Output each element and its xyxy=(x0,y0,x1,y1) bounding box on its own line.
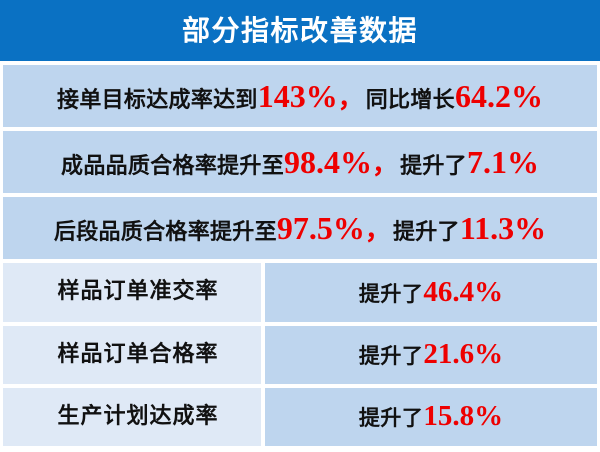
metric-value-prefix: 提升了 xyxy=(359,284,424,305)
metric-label-cell: 生产计划达成率 xyxy=(3,388,261,446)
metric-statement: 成品品质合格率提升至98.4%，提升了7.1% xyxy=(61,146,539,178)
metric-value-secondary: 7.1% xyxy=(467,146,539,178)
metric-value-secondary: 64.2% xyxy=(455,80,543,112)
metric-statement: 接单目标达成率达到143%，同比增长64.2% xyxy=(57,80,543,112)
metric-label-text: 样品订单合格率 xyxy=(57,344,218,366)
metric-middle-text: 同比增长 xyxy=(366,90,455,112)
metric-value-prefix: 提升了 xyxy=(359,408,424,429)
metric-row-wide: 后段品质合格率提升至97.5%，提升了11.3% xyxy=(3,197,597,259)
metric-value-cell: 提升了21.6% xyxy=(265,326,597,384)
metric-label-text: 生产计划达成率 xyxy=(57,406,218,428)
metric-value-primary: 97.5% xyxy=(277,212,365,244)
metric-separator: ， xyxy=(372,152,400,178)
metric-value-statement: 提升了15.8% xyxy=(359,402,503,431)
metric-prefix-text: 后段品质合格率提升至 xyxy=(54,222,277,244)
metric-value-secondary: 11.3% xyxy=(460,212,546,244)
page-title: 部分指标改善数据 xyxy=(182,17,418,45)
metric-label-cell: 样品订单合格率 xyxy=(3,326,261,384)
metric-label-text: 样品订单准交率 xyxy=(57,281,218,303)
metric-value-cell: 提升了15.8% xyxy=(265,388,597,446)
metric-separator: ， xyxy=(365,218,393,244)
metric-statement: 后段品质合格率提升至97.5%，提升了11.3% xyxy=(54,212,546,244)
metric-row-split: 样品订单合格率 提升了21.6% xyxy=(3,326,597,384)
metric-value-statement: 提升了21.6% xyxy=(359,340,503,369)
metric-prefix-text: 成品品质合格率提升至 xyxy=(61,156,284,178)
metric-separator: ， xyxy=(338,86,366,112)
metric-label-cell: 样品订单准交率 xyxy=(3,263,261,321)
metric-value-primary: 98.4% xyxy=(284,146,372,178)
metric-row-split: 生产计划达成率 提升了15.8% xyxy=(3,388,597,446)
board-header: 部分指标改善数据 xyxy=(0,0,600,61)
metric-prefix-text: 接单目标达成率达到 xyxy=(57,90,258,112)
metric-value-statement: 提升了46.4% xyxy=(359,278,503,307)
metric-row-wide: 成品品质合格率提升至98.4%，提升了7.1% xyxy=(3,131,597,193)
metrics-rows: 接单目标达成率达到143%，同比增长64.2% 成品品质合格率提升至98.4%，… xyxy=(0,61,600,452)
metric-row-wide: 接单目标达成率达到143%，同比增长64.2% xyxy=(3,65,597,127)
metric-value-number: 46.4% xyxy=(423,278,503,307)
metric-value-prefix: 提升了 xyxy=(359,346,424,367)
metric-value-number: 21.6% xyxy=(423,340,503,369)
metric-middle-text: 提升了 xyxy=(393,222,460,244)
metric-value-primary: 143% xyxy=(258,80,338,112)
metric-value-cell: 提升了46.4% xyxy=(265,263,597,321)
metric-middle-text: 提升了 xyxy=(400,156,467,178)
metric-value-number: 15.8% xyxy=(423,402,503,431)
metric-row-split: 样品订单准交率 提升了46.4% xyxy=(3,263,597,321)
metrics-improvement-board: 部分指标改善数据 接单目标达成率达到143%，同比增长64.2% 成品品质合格率… xyxy=(0,0,600,452)
